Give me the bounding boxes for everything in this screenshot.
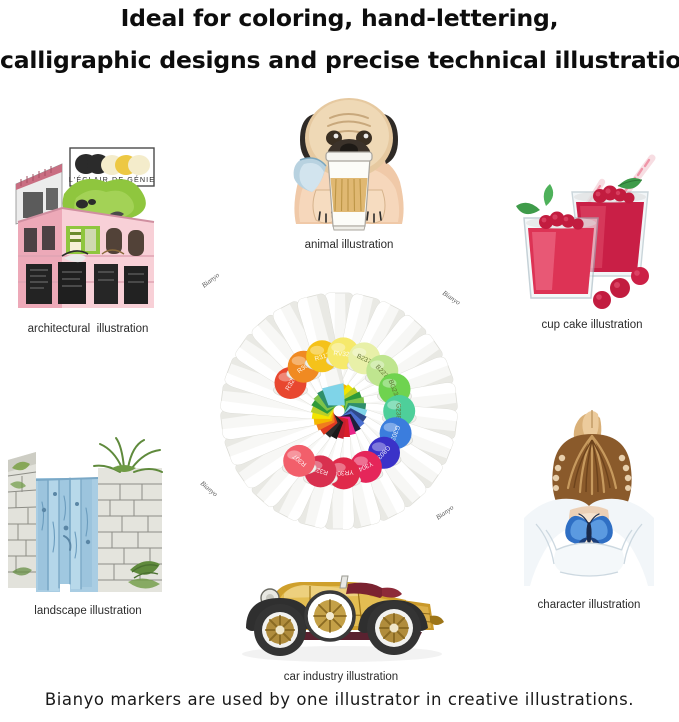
cupcake-illustration-image xyxy=(506,140,678,312)
illustration-card-car: car industry illustration xyxy=(226,554,456,684)
landscape-illustration-image xyxy=(2,432,174,600)
illustration-card-architectural: L'ÉCLAIR DE GÉNIE xyxy=(2,132,174,336)
caption-car: car industry illustration xyxy=(226,670,456,684)
caption-architectural: architectural illustration xyxy=(2,322,174,336)
headline-line-1: Ideal for coloring, hand-lettering, xyxy=(0,0,679,33)
animal-illustration-image xyxy=(258,86,440,236)
caption-animal: animal illustration xyxy=(258,238,440,252)
footer: Bianyo markers are used by one illustrat… xyxy=(0,690,679,709)
architectural-illustration-image: L'ÉCLAIR DE GÉNIE xyxy=(2,132,174,318)
headline-line-2: calligraphic designs and precise technic… xyxy=(0,33,679,75)
car-illustration-image xyxy=(226,554,456,666)
caption-landscape: landscape illustration xyxy=(2,604,174,618)
caption-character: character illustration xyxy=(500,598,678,612)
character-illustration-image xyxy=(500,406,678,596)
illustration-card-character: character illustration xyxy=(500,406,678,612)
caption-cupcake: cup cake illustration xyxy=(506,318,678,332)
headline: Ideal for coloring, hand-lettering, call… xyxy=(0,0,679,75)
illustration-card-landscape: landscape illustration xyxy=(2,432,174,618)
markers-circle-photo: R327R307R317RV321B237B227BG235G238G303G8… xyxy=(180,252,498,570)
illustration-card-cupcake: cup cake illustration xyxy=(506,140,678,332)
footer-text: Bianyo markers are used by one illustrat… xyxy=(0,690,679,709)
marker-cap-code: G238 xyxy=(395,403,402,419)
markers-radial-arrangement-image: R327R307R317RV321B237B227BG235G238G303G8… xyxy=(180,252,498,570)
illustration-card-animal: animal illustration xyxy=(258,86,440,252)
